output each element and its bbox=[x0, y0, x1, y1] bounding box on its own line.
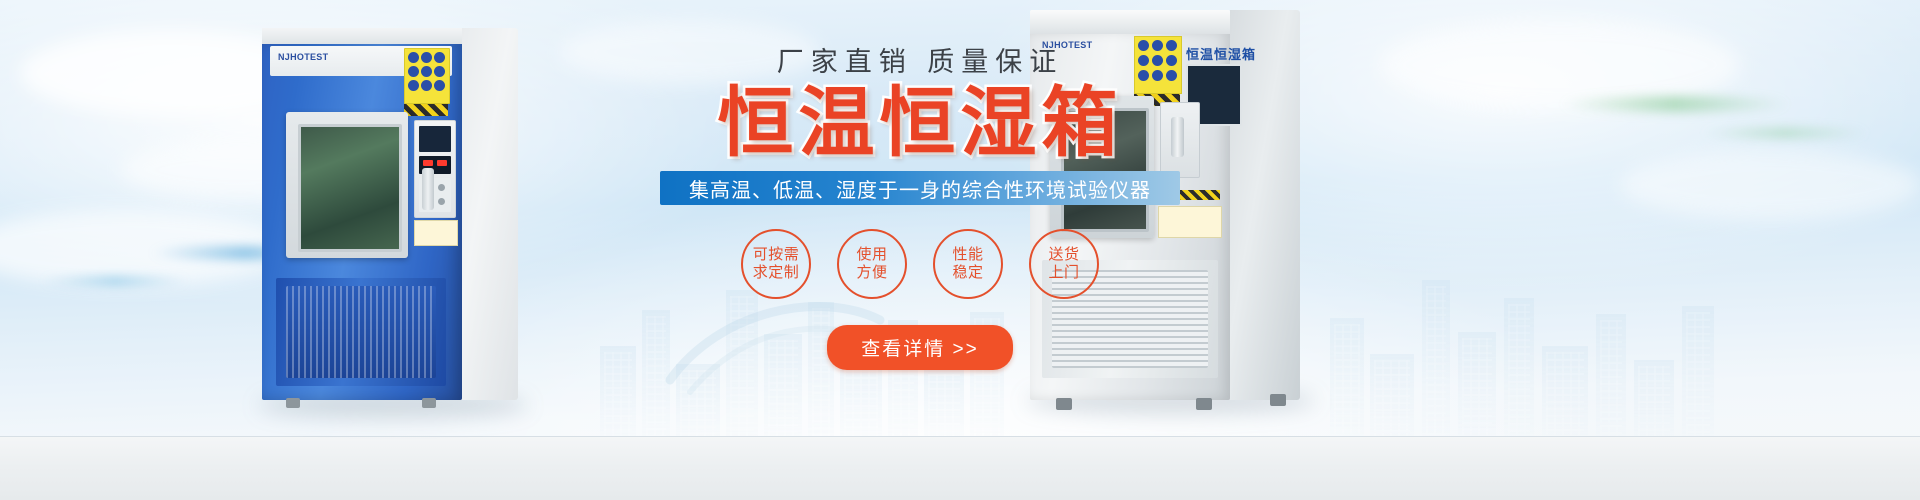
banner-title: 恒温恒湿箱 bbox=[660, 84, 1180, 164]
safety-label-left bbox=[404, 48, 450, 104]
caster-right bbox=[1056, 398, 1072, 410]
banner-subtitle-bar: 集高温、低温、湿度于一身的综合性环境试验仪器 bbox=[660, 171, 1180, 205]
control-panel-left bbox=[414, 120, 456, 218]
product-image-left: NJHOTEST bbox=[262, 28, 518, 400]
panel-screen-left bbox=[419, 126, 451, 152]
banner-copy-block: 厂家直销 质量保证 恒温恒湿箱 集高温、低温、湿度于一身的综合性环境试验仪器 可… bbox=[660, 48, 1180, 370]
badge-line-1: 使用 bbox=[856, 246, 887, 265]
feature-badge-easy-use[interactable]: 使用 方便 bbox=[837, 229, 907, 299]
cloud-streak bbox=[1560, 96, 1790, 112]
banner-tagline: 厂家直销 质量保证 bbox=[660, 48, 1180, 78]
caster-left bbox=[422, 398, 436, 408]
badge-line-1: 送货 bbox=[1048, 246, 1079, 265]
cta-container: 查看详情 >> bbox=[660, 325, 1180, 370]
spec-sticker-left bbox=[414, 220, 458, 246]
feature-badge-list: 可按需 求定制 使用 方便 性能 稳定 送货 上门 bbox=[660, 229, 1180, 299]
badge-line-1: 可按需 bbox=[753, 246, 800, 265]
feature-badge-delivery[interactable]: 送货 上门 bbox=[1029, 229, 1099, 299]
badge-line-1: 性能 bbox=[952, 246, 983, 265]
door-handle-left bbox=[422, 168, 434, 210]
hazard-stripe-left bbox=[404, 104, 448, 116]
caster-right bbox=[1196, 398, 1212, 410]
view-details-button[interactable]: 查看详情 >> bbox=[827, 325, 1012, 370]
badge-line-2: 上门 bbox=[1048, 264, 1079, 283]
chamber-door-left bbox=[286, 112, 408, 258]
feature-badge-stable[interactable]: 性能 稳定 bbox=[933, 229, 1003, 299]
badge-line-2: 方便 bbox=[856, 264, 887, 283]
caster-left bbox=[286, 398, 300, 408]
machine-base-left bbox=[276, 278, 446, 386]
product-brand-left: NJHOTEST bbox=[278, 52, 328, 62]
cityscape-decoration bbox=[1330, 238, 1750, 438]
product-model-label-right: 恒温恒湿箱 bbox=[1186, 44, 1256, 63]
feature-badge-custom[interactable]: 可按需 求定制 bbox=[741, 229, 811, 299]
viewing-window-left bbox=[298, 124, 402, 252]
caster-right bbox=[1270, 394, 1286, 406]
cloud-decoration bbox=[1620, 150, 1920, 220]
banner-subtitle-text: 集高温、低温、湿度于一身的综合性环境试验仪器 bbox=[689, 174, 1151, 203]
cloud-streak bbox=[40, 276, 190, 286]
badge-line-2: 求定制 bbox=[753, 264, 800, 283]
badge-line-2: 稳定 bbox=[952, 264, 983, 283]
promo-banner: NJHOTEST bbox=[0, 0, 1920, 500]
cloud-streak bbox=[1700, 128, 1870, 138]
ventilation-grille-left bbox=[286, 286, 436, 378]
ground-horizon-line bbox=[0, 436, 1920, 437]
ground-surface bbox=[0, 436, 1920, 500]
